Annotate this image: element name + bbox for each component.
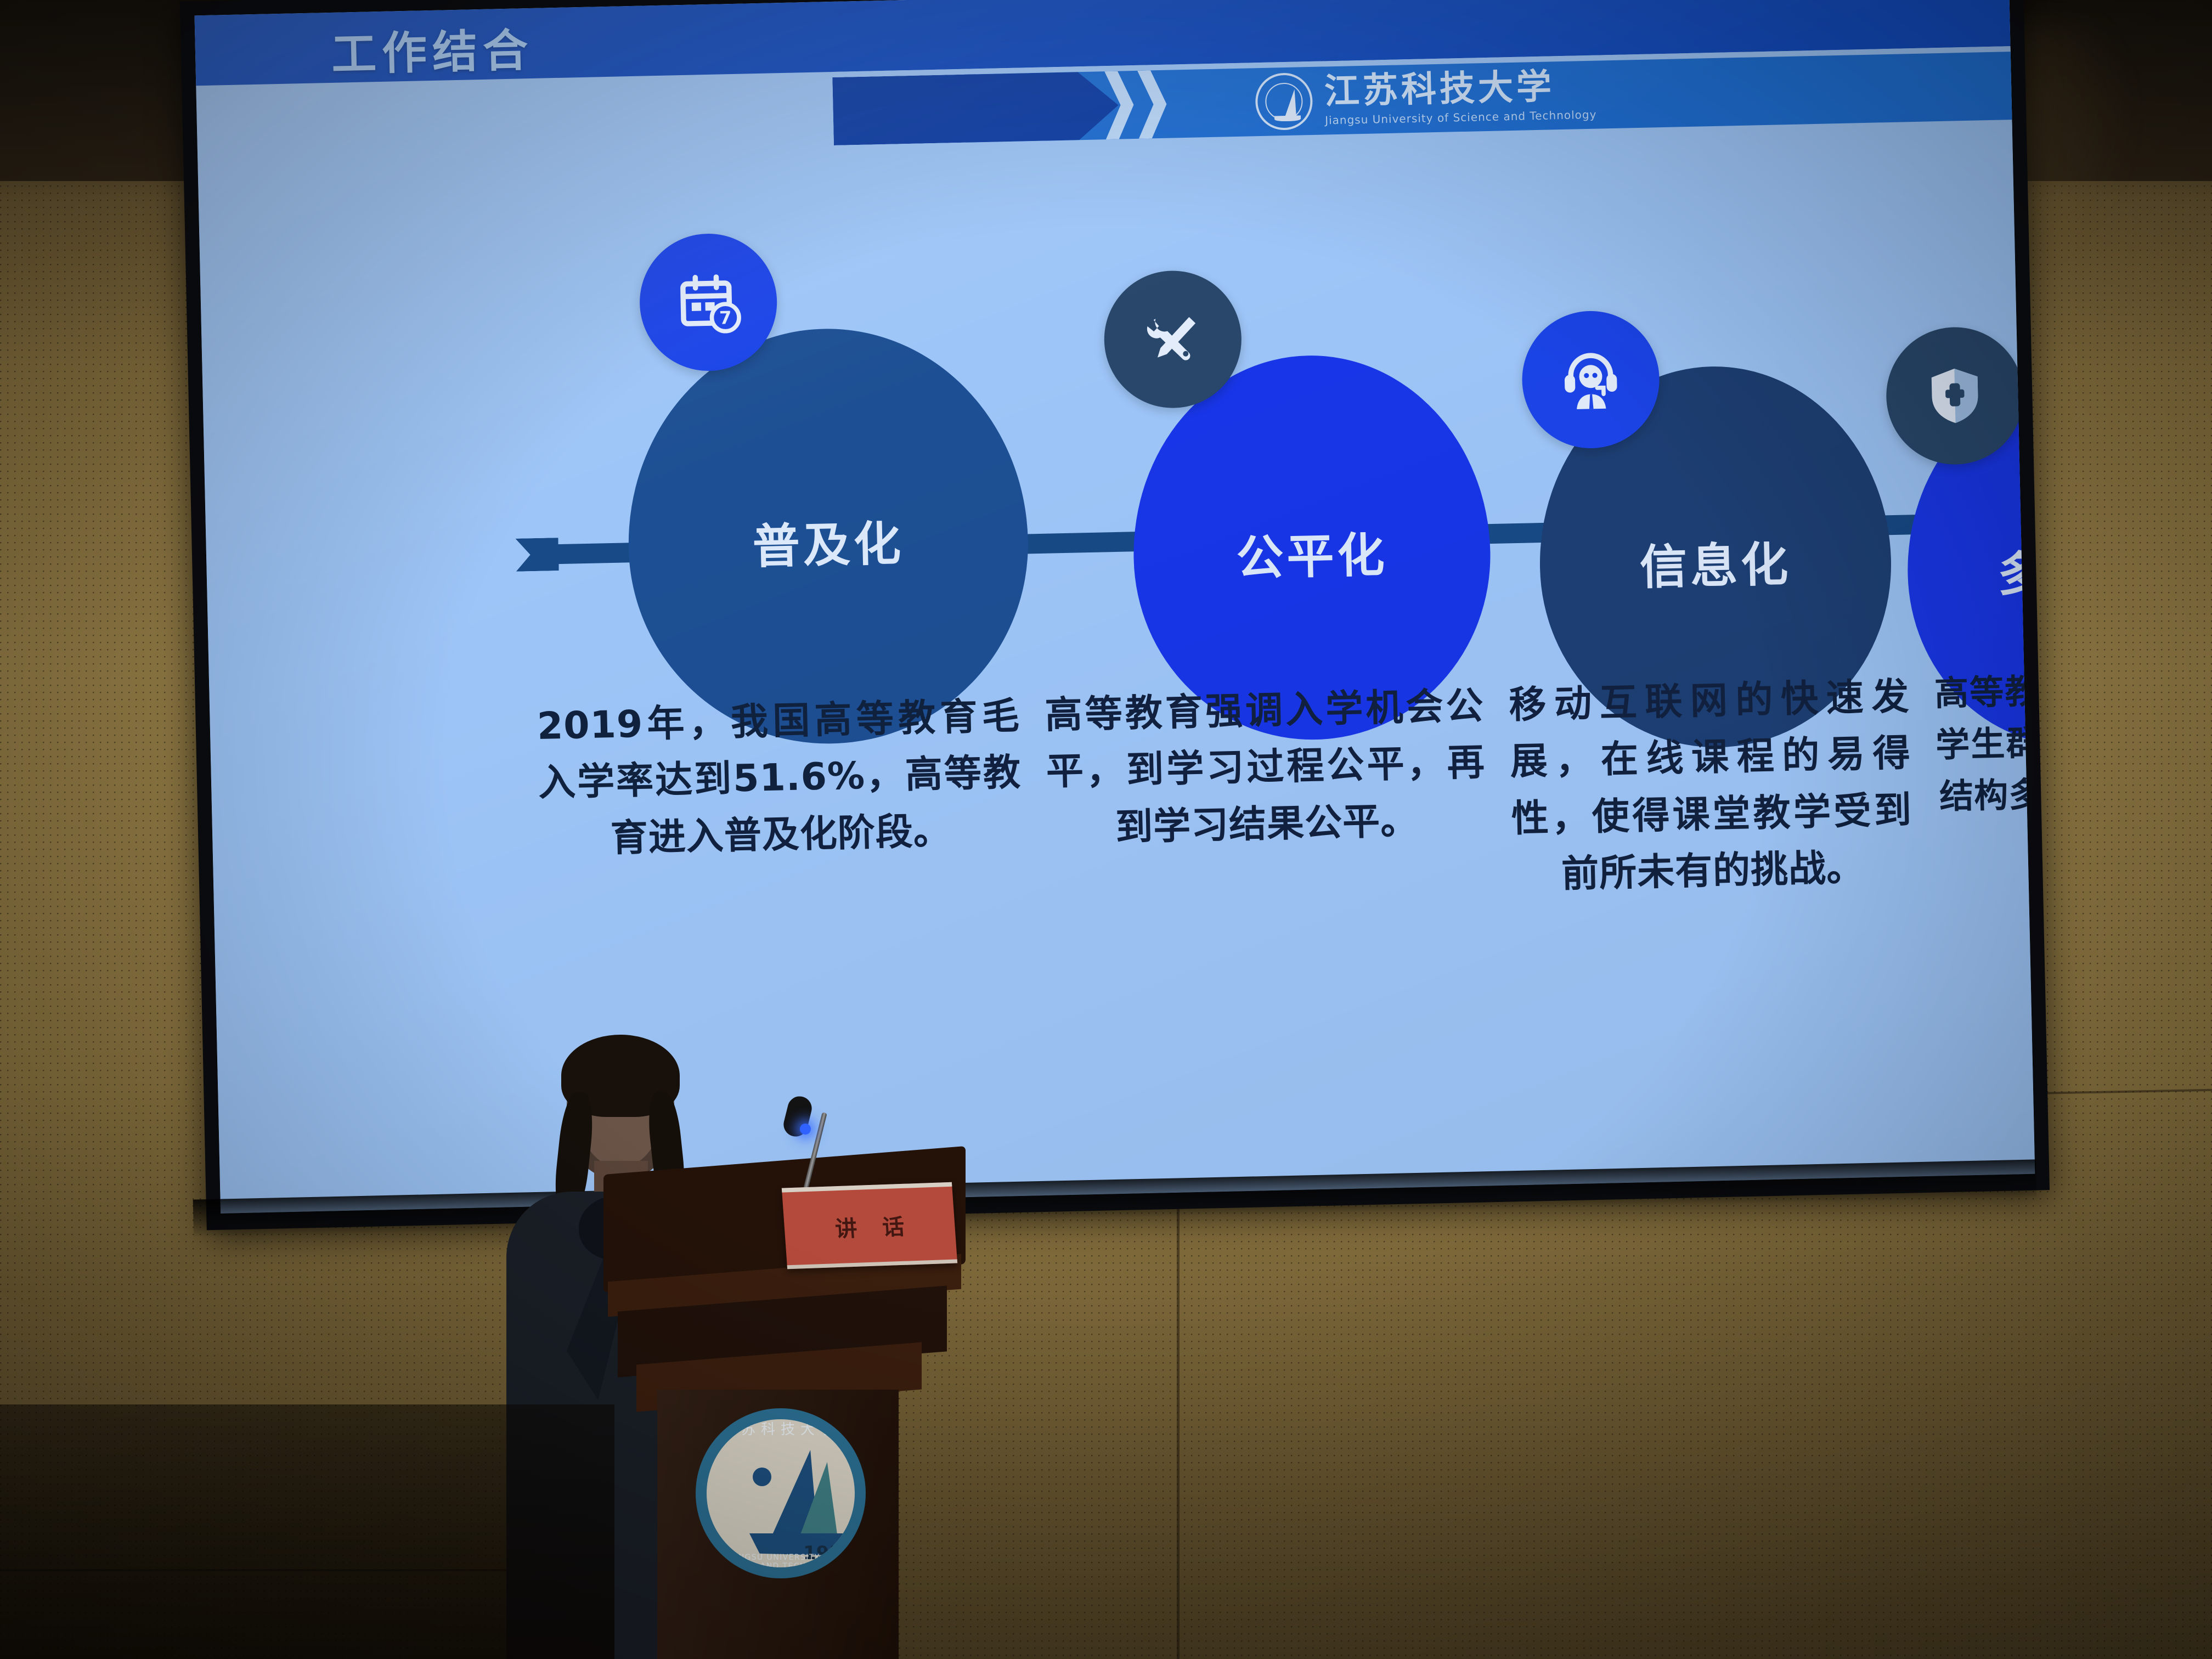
node-label: 普及化 — [752, 505, 905, 577]
slide-paragraph-3: 移动互联网的快速发展，在线课程的易得性，使得课堂教学受到前所未有的挑战。 — [1508, 668, 1914, 904]
slide-paragraph-1: 2019年，我国高等教育毛入学率达到51.6%，高等教育进入普及化阶段。 — [537, 688, 1024, 926]
university-logo: 江苏科技大学 Jiangsu University of Science and… — [1255, 62, 1597, 136]
emblem-name-cn: 江苏科技大学 — [707, 1418, 855, 1438]
logo-bar-dark-segment — [832, 71, 1119, 145]
slide-title: 工作结合 — [331, 14, 534, 83]
slide-paragraph-2: 高等教育强调入学机会公平，到学习过程公平，再到学习结果公平。 — [1045, 678, 1488, 914]
node-label: 信息化 — [1639, 526, 1792, 597]
slide-text-columns: 2019年，我国高等教育毛入学率达到51.6%，高等教育进入普及化阶段。 高等教… — [537, 661, 2035, 926]
slide-paragraph-4: 高等教育普及化，导致学生群体多样性、学生结构多元化趋势明显。 — [1934, 660, 2035, 894]
svg-text:7: 7 — [719, 307, 732, 328]
sailboat-seal-icon — [1255, 72, 1313, 131]
node-label: 多元化 — [1997, 532, 2035, 604]
projection-screen: 工作结合 江苏科技大学 Jiangsu University of Scienc… — [195, 0, 2035, 1214]
presentation-slide: 工作结合 江苏科技大学 Jiangsu University of Scienc… — [195, 0, 2035, 1214]
microphone-led-indicator — [800, 1124, 811, 1135]
name-card-char-1: 讲 — [834, 1210, 858, 1243]
node-label: 公平化 — [1235, 516, 1389, 588]
name-card-char-2: 话 — [881, 1209, 905, 1241]
podium-name-card: 讲 话 — [782, 1182, 957, 1269]
sailboat-emblem-icon: 江苏科技大学 1933 JIANGSU UNIVERSITY OF SCIENC… — [696, 1408, 866, 1578]
foreground-shadow — [0, 1404, 614, 1659]
node-bubble: 普及化 — [624, 325, 1032, 748]
lecture-hall-photo: 工作结合 江苏科技大学 Jiangsu University of Scienc… — [0, 0, 2212, 1659]
university-name-cn: 江苏科技大学 — [1324, 69, 1596, 110]
projection-screen-frame: 工作结合 江苏科技大学 Jiangsu University of Scienc… — [180, 0, 2050, 1230]
